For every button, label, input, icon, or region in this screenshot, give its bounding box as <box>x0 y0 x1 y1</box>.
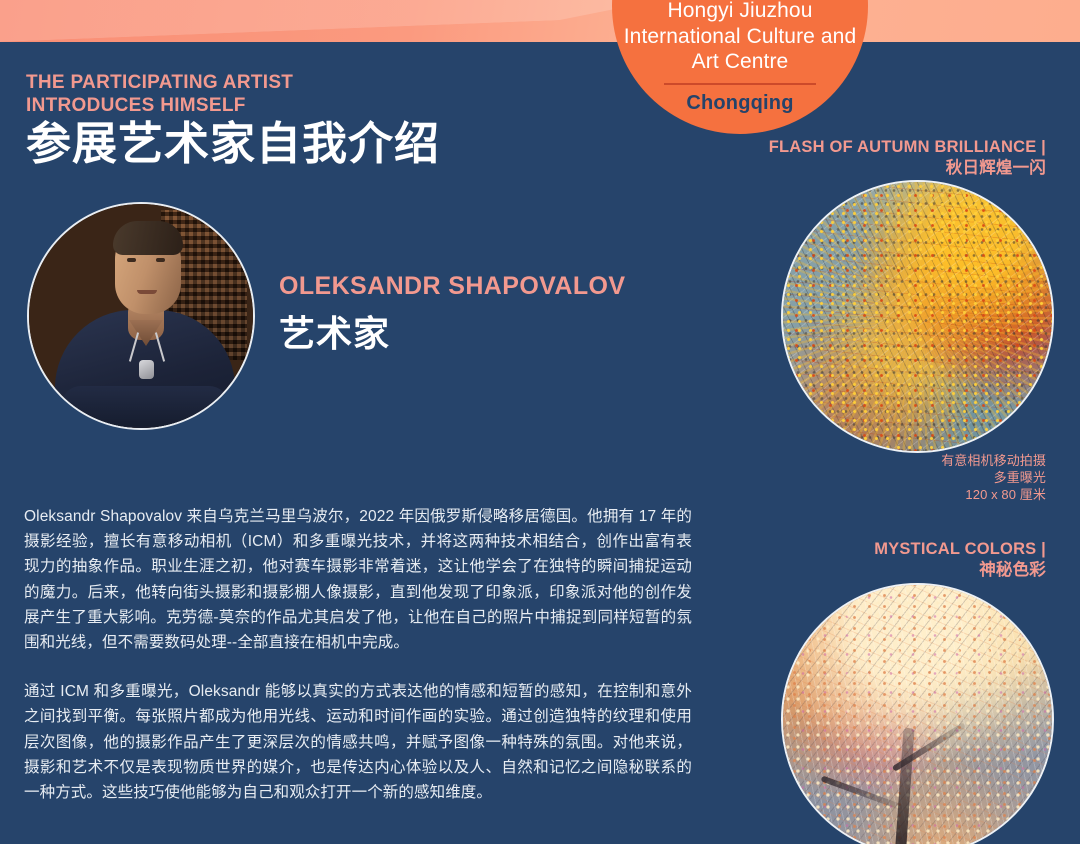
venue-city: Chongqing <box>612 92 868 115</box>
venue-divider <box>664 83 816 85</box>
artwork-1-exposure: 多重曝光 <box>941 469 1046 486</box>
artist-name-block: OLEKSANDR SHAPOVALOV 艺术家 <box>279 272 625 357</box>
artwork-2-foliage-specks <box>783 585 1052 844</box>
portrait-hair <box>113 221 183 255</box>
artist-bio: Oleksandr Shapovalov 来自乌克兰马里乌波尔，2022 年因俄… <box>24 504 692 805</box>
artwork-1-caption: 有意相机移动拍摄 多重曝光 120 x 80 厘米 <box>941 452 1046 503</box>
artwork-1-title-cn: 秋日辉煌一闪 <box>769 158 1046 179</box>
artwork-2-title-en: MYSTICAL COLORS | <box>874 539 1046 560</box>
portrait-necklace-pendant <box>139 360 154 379</box>
artist-role-cn: 艺术家 <box>279 305 625 357</box>
portrait-mouth <box>137 290 157 294</box>
artist-name-en: OLEKSANDR SHAPOVALOV <box>279 272 625 301</box>
artwork-1-technique: 有意相机移动拍摄 <box>941 452 1046 469</box>
artwork-1-title-en: FLASH OF AUTUMN BRILLIANCE | <box>769 137 1046 158</box>
venue-badge: Hongyi Jiuzhou International Culture and… <box>612 0 868 134</box>
artist-portrait-photo <box>27 202 255 430</box>
artwork-1-foliage-specks <box>783 182 1052 451</box>
artwork-2-image <box>781 583 1054 844</box>
bio-paragraph-1: Oleksandr Shapovalov 来自乌克兰马里乌波尔，2022 年因俄… <box>24 504 692 655</box>
bio-paragraph-2: 通过 ICM 和多重曝光，Oleksandr 能够以真实的方式表达他的情感和短暂… <box>24 679 692 805</box>
header-diagonal-wedge <box>0 0 1080 42</box>
portrait-left-eye <box>127 258 136 262</box>
portrait-crossed-arms <box>61 386 229 426</box>
artwork-2-title: MYSTICAL COLORS | 神秘色彩 <box>874 539 1046 581</box>
artwork-2-title-cn: 神秘色彩 <box>874 560 1046 581</box>
headline-block: THE PARTICIPATING ARTIST INTRODUCES HIMS… <box>26 72 440 170</box>
artwork-1-title: FLASH OF AUTUMN BRILLIANCE | 秋日辉煌一闪 <box>769 137 1046 179</box>
artwork-1-image <box>781 180 1054 453</box>
headline-eyebrow-line1: THE PARTICIPATING ARTIST <box>26 72 440 95</box>
artwork-1-dimensions: 120 x 80 厘米 <box>941 486 1046 503</box>
page-title: 参展艺术家自我介绍 <box>26 118 440 170</box>
venue-name: Hongyi Jiuzhou International Culture and… <box>612 0 868 75</box>
header-gradient-band <box>0 0 1080 42</box>
headline-eyebrow-line2: INTRODUCES HIMSELF <box>26 95 440 118</box>
portrait-right-eye <box>156 258 165 262</box>
